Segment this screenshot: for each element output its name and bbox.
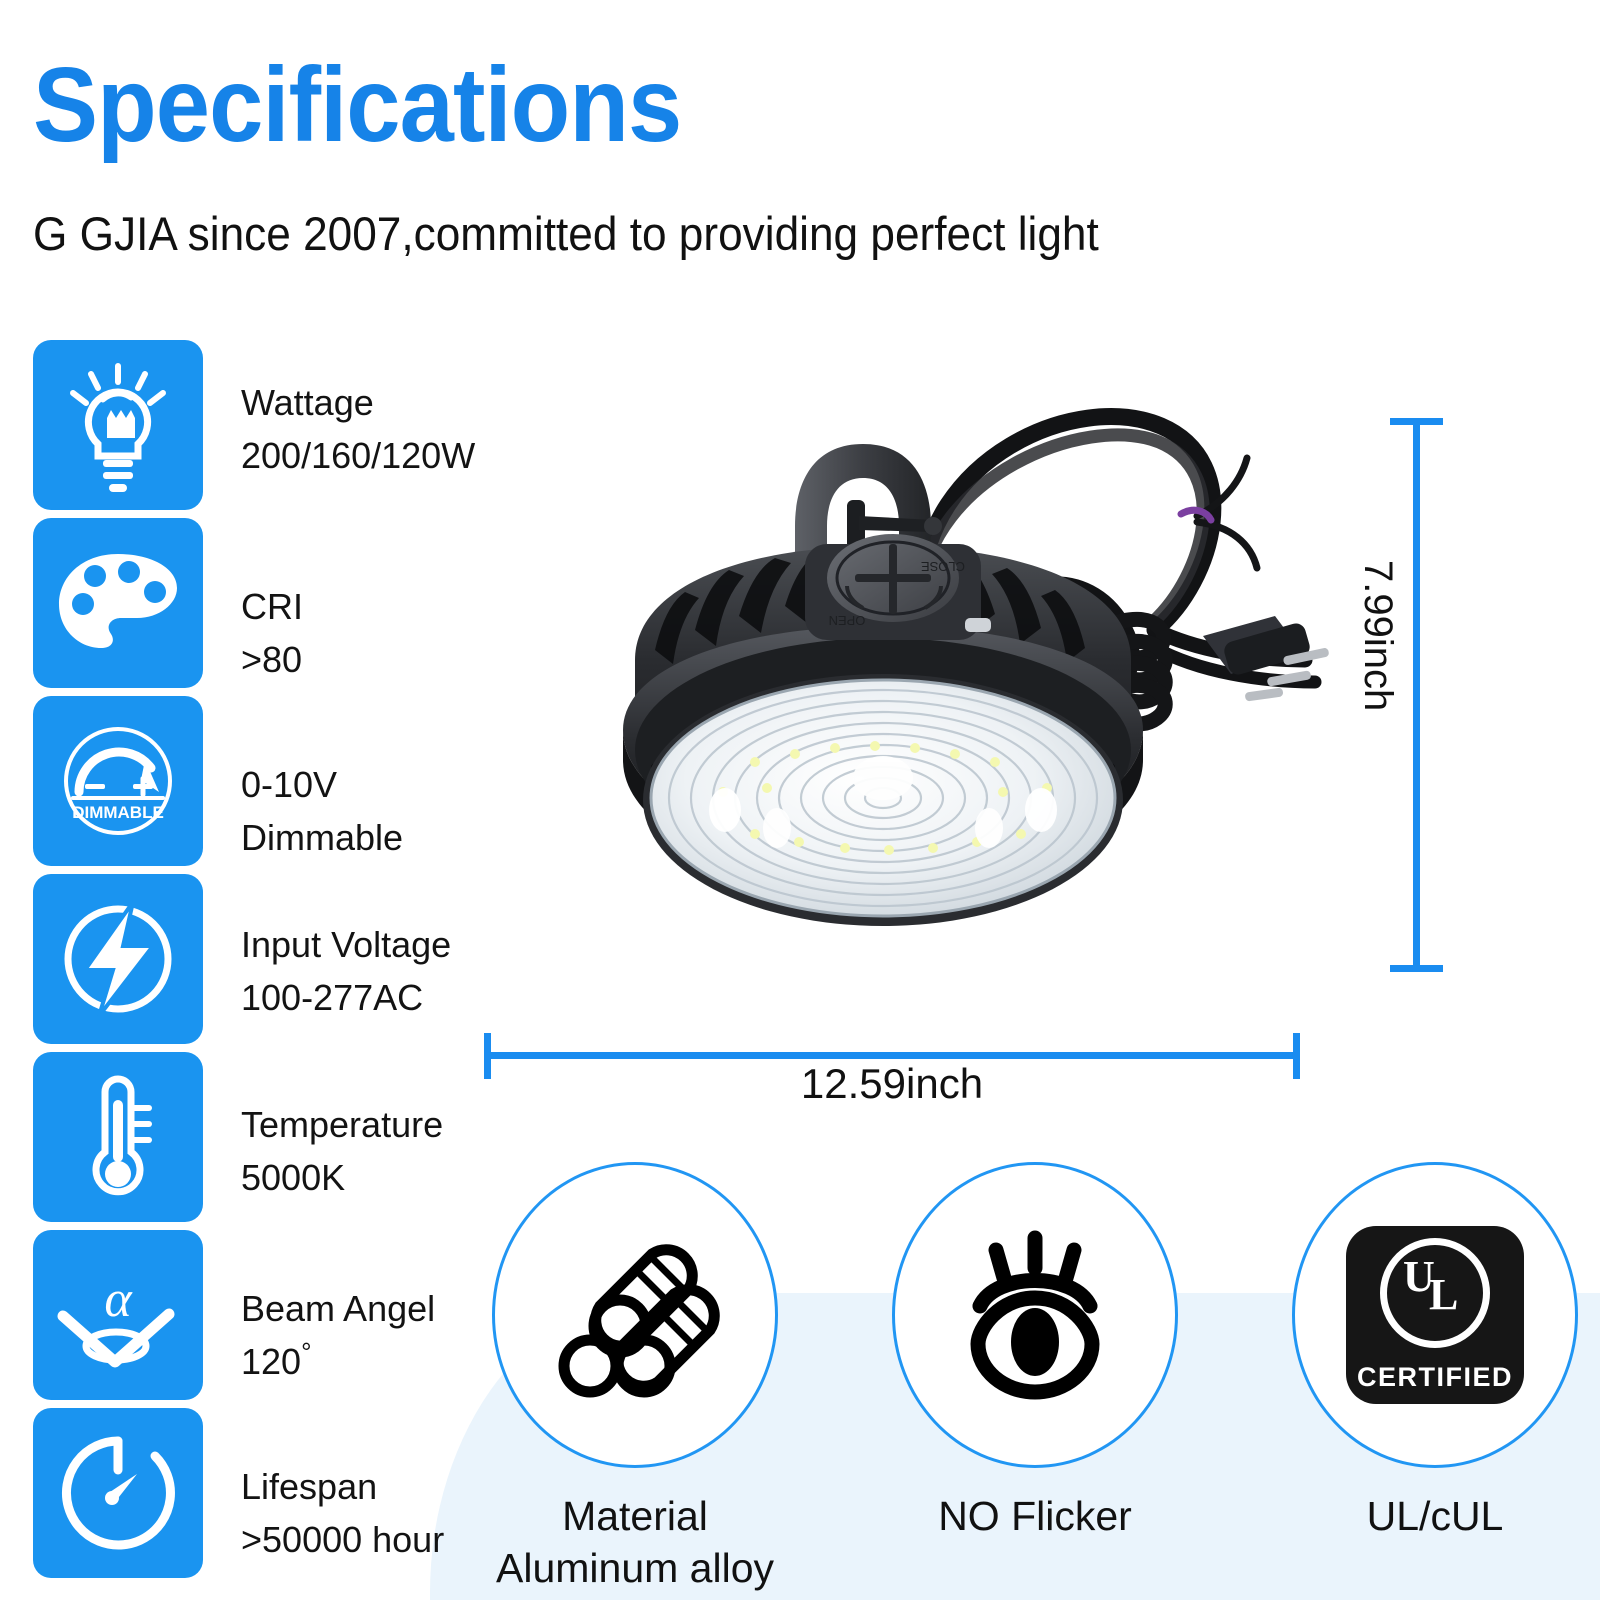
thermometer-icon bbox=[33, 1052, 203, 1222]
spec-text-wattage: Wattage 200/160/120W bbox=[241, 340, 475, 482]
feature-ring-material bbox=[492, 1162, 778, 1468]
spec-label-wattage: Wattage bbox=[241, 382, 374, 423]
page-title: Specifications bbox=[33, 52, 681, 158]
feature-material-line1: Material bbox=[562, 1493, 708, 1539]
spec-label-temperature: Temperature bbox=[241, 1104, 443, 1145]
feature-ring-ul: U L CERTIFIED bbox=[1292, 1162, 1578, 1468]
specification-list: Wattage 200/160/120W CRI >80 bbox=[33, 340, 453, 1586]
spec-row-temperature: Temperature 5000K bbox=[33, 1052, 453, 1230]
spec-value-input-voltage: 100-277AC bbox=[241, 971, 451, 1024]
spec-value-temperature: 5000K bbox=[241, 1151, 443, 1204]
dimension-bar-vertical bbox=[1413, 418, 1420, 972]
spec-label-lifespan: Lifespan bbox=[241, 1466, 377, 1507]
feature-no-flicker-line1: NO Flicker bbox=[938, 1493, 1132, 1539]
ul-certified-icon: U L CERTIFIED bbox=[1346, 1226, 1524, 1404]
feature-material: Material Aluminum alloy bbox=[470, 1162, 800, 1600]
feature-label-no-flicker: NO Flicker bbox=[938, 1490, 1132, 1542]
degree-symbol: ° bbox=[301, 1337, 311, 1367]
product-image-ufo-high-bay-light: CLOSE OPEN bbox=[455, 330, 1355, 1030]
spec-row-cri: CRI >80 bbox=[33, 518, 453, 696]
spec-label-cri: CRI bbox=[241, 586, 303, 627]
spec-text-input-voltage: Input Voltage 100-277AC bbox=[241, 874, 451, 1024]
feature-no-flicker: NO Flicker bbox=[870, 1162, 1200, 1600]
spec-label-dimmable: 0-10V bbox=[241, 764, 337, 805]
feature-label-material: Material Aluminum alloy bbox=[496, 1490, 774, 1594]
ul-letter-l: L bbox=[1429, 1273, 1458, 1317]
spec-label-beam-angle: Beam Angel bbox=[241, 1288, 435, 1329]
dimmable-badge-text: DIMMABLE bbox=[72, 803, 164, 822]
color-palette-icon bbox=[33, 518, 203, 688]
spec-label-input-voltage: Input Voltage bbox=[241, 924, 451, 965]
alpha-glyph: α bbox=[104, 1271, 133, 1328]
spec-text-lifespan: Lifespan >50000 hour bbox=[241, 1408, 444, 1566]
page-subtitle: G GJIA since 2007,committed to providing… bbox=[33, 206, 1099, 262]
dimension-cap-right bbox=[1293, 1033, 1300, 1079]
lightning-bolt-icon bbox=[33, 874, 203, 1044]
spec-text-temperature: Temperature 5000K bbox=[241, 1052, 443, 1204]
beam-angle-icon: α bbox=[33, 1230, 203, 1400]
feature-material-line2: Aluminum alloy bbox=[496, 1545, 774, 1591]
spec-text-cri: CRI >80 bbox=[241, 518, 303, 686]
spec-value-cri: >80 bbox=[241, 633, 303, 686]
spec-row-dimmable: DIMMABLE 0-10V Dimmable bbox=[33, 696, 453, 874]
dimmable-dial-icon: DIMMABLE bbox=[33, 696, 203, 866]
light-bulb-icon bbox=[33, 340, 203, 510]
width-dimension-line bbox=[478, 1030, 1306, 1090]
dimension-cap-bottom bbox=[1390, 965, 1443, 972]
spec-value-wattage: 200/160/120W bbox=[241, 429, 475, 482]
spec-row-beam-angle: α Beam Angel 120° bbox=[33, 1230, 453, 1408]
product-spec-page: Specifications G GJIA since 2007,committ… bbox=[0, 0, 1600, 1600]
stopwatch-icon bbox=[33, 1408, 203, 1578]
spec-row-lifespan: Lifespan >50000 hour bbox=[33, 1408, 453, 1586]
spec-text-beam-angle: Beam Angel 120° bbox=[241, 1230, 435, 1388]
feature-ul-line1: UL/cUL bbox=[1367, 1493, 1504, 1539]
cap-open-label: OPEN bbox=[829, 613, 866, 628]
spec-text-dimmable: 0-10V Dimmable bbox=[241, 696, 403, 864]
feature-label-ul-cul: UL/cUL bbox=[1367, 1490, 1504, 1542]
height-dimension-line bbox=[1380, 410, 1460, 980]
aluminum-profiles-icon bbox=[540, 1220, 730, 1410]
spec-value-lifespan: >50000 hour bbox=[241, 1513, 444, 1566]
feature-ul-cul: U L CERTIFIED UL/cUL bbox=[1270, 1162, 1600, 1600]
spec-row-input-voltage: Input Voltage 100-277AC bbox=[33, 874, 453, 1052]
cap-close-label: CLOSE bbox=[921, 559, 965, 574]
spec-value-beam-angle: 120° bbox=[241, 1335, 435, 1388]
eye-icon bbox=[940, 1220, 1130, 1410]
dimension-bar-horizontal bbox=[484, 1052, 1300, 1059]
spec-value-dimmable: Dimmable bbox=[241, 811, 403, 864]
ul-certified-text: CERTIFIED bbox=[1357, 1362, 1513, 1393]
feature-badge-row: Material Aluminum alloy NO Flic bbox=[470, 1162, 1600, 1600]
ul-mark-circle: U L bbox=[1380, 1238, 1490, 1348]
spec-row-wattage: Wattage 200/160/120W bbox=[33, 340, 453, 518]
feature-ring-no-flicker bbox=[892, 1162, 1178, 1468]
